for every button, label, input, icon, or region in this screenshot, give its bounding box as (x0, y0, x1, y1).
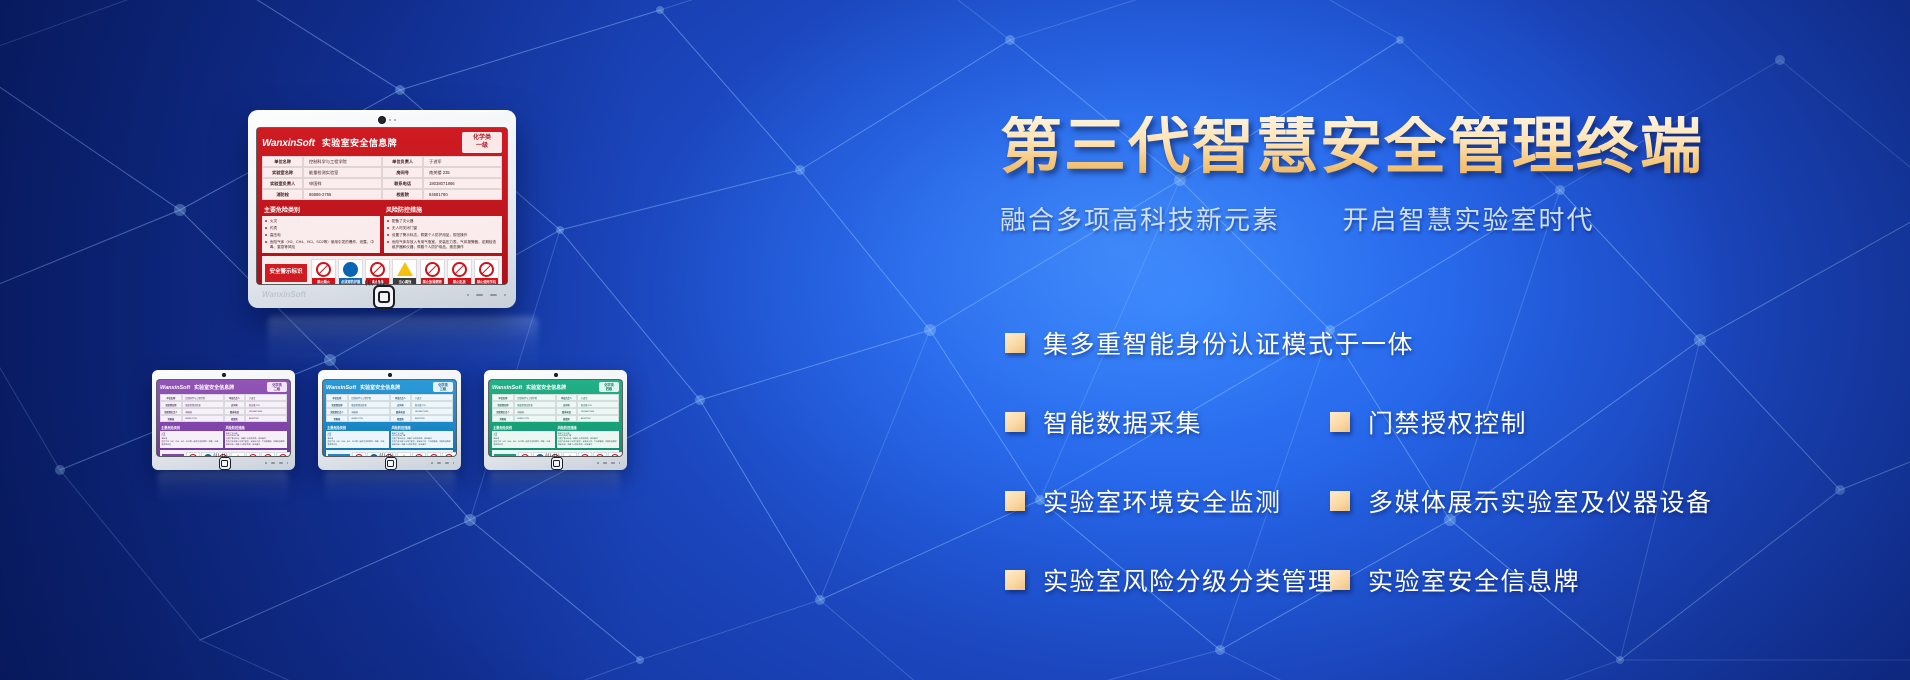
bullet-square-icon (1005, 333, 1025, 353)
hazard-text: 火灾 (270, 219, 377, 224)
info-key: 联系电话 (382, 178, 423, 189)
no-disorder-icon (452, 262, 467, 277)
info-value: 于进军 (423, 156, 502, 167)
control-list: 配备了灭火器 无人时关闭门窗 设置了警示标志，佩戴个人防护用品，规范操作 危险气… (391, 431, 454, 448)
feature-label: 多媒体展示实验室及仪器设备 (1368, 483, 1713, 519)
list-item: 危险气体（H2、CH4、HCl、SO2等）使用引发的爆炸、泄露、中毒、窒息等风险 (265, 240, 377, 251)
hazard-text: 危险气体（H2、CH4、HCl、SO2等）使用引发的爆炸、泄露、中毒、窒息等风险 (328, 441, 388, 447)
info-value: 18038071866 (411, 408, 453, 415)
info-key: 实验室负责人 (492, 408, 514, 415)
info-key: 校医院 (224, 415, 246, 422)
info-key: 消防栓 (326, 415, 348, 422)
info-value: 控制科学与工程学院 (514, 394, 556, 401)
info-key: 单位负责人 (556, 394, 578, 401)
info-key: 单位名称 (492, 394, 514, 401)
info-value: 申国祥 (348, 408, 390, 415)
info-key: 单位负责人 (224, 394, 246, 401)
front-camera-icon (554, 373, 558, 377)
grade-level: 四级 (599, 387, 619, 391)
hazard-list: 火灾 灼烫 高压电 危险气体（H2、CH4、HCl、SO2等）使用引发的爆炸、泄… (160, 431, 223, 448)
feature-item-6[interactable]: 实验室风险分级分类管理 (1005, 562, 1330, 598)
hazard-list: 火灾 灼烫 高压电 危险气体（H2、CH (262, 216, 380, 253)
grade-category: 化学类 (462, 135, 502, 143)
info-key: 单位名称 (262, 156, 303, 167)
control-text: 配备了灭火器 (392, 219, 499, 224)
info-value: 86886-2755 (303, 189, 382, 200)
hazard-header: 主要危险类别 (160, 424, 223, 431)
wanxinsoft-logo: WanxinSoft (262, 138, 315, 149)
hero-title: 第三代智慧安全管理终端 (1000, 116, 1860, 178)
control-header: 风险防控措施 (225, 424, 288, 431)
lab-info-table: 单位名称 控制科学与工程学院 单位负责人 于进军 实验室名称 能量检测实验室 房… (262, 156, 502, 200)
info-key: 房间号 (390, 401, 412, 408)
control-text: 无人时关闭门窗 (392, 226, 499, 231)
status-indicator-leds (597, 462, 620, 464)
list-item: 灼烫 (265, 226, 377, 231)
info-key: 校医院 (390, 415, 412, 422)
risk-sections: 主要危险类别 火灾 灼烫 高压电 危险气体（H2、CH4、HCl、SO2等）使用… (326, 424, 453, 448)
info-value: 84681780 (245, 415, 287, 422)
sensor-dots (389, 119, 396, 121)
hazard-text: 危险气体（H2、CH4、HCl、SO2等）使用引发的爆炸、泄露、中毒、窒息等风险 (162, 441, 222, 447)
control-header: 风险防控措施 (391, 424, 454, 431)
grade-level: 一级 (462, 143, 502, 151)
no-flammables-icon (425, 262, 440, 277)
board-header: WanxinSoft 实验室安全信息牌 化学类 一级 (262, 132, 502, 153)
thumbnail-chin-1: ((( ))) (152, 456, 295, 470)
info-key: 单位负责人 (390, 394, 412, 401)
control-text: 危险气体存放入专用气瓶室，安装压力表、气体报警器，定期检查维护器和仪器，佩戴个人… (558, 441, 618, 447)
safety-board-page-purple: WanxinSoft 实验室安全信息牌 化学类 二级 单位名称 控制科学与工程学… (157, 380, 290, 456)
corrosion-warning-icon (397, 262, 413, 276)
info-key: 实验室负责人 (160, 408, 182, 415)
info-key: 房间号 (224, 401, 246, 408)
feature-label: 门禁授权控制 (1368, 404, 1527, 440)
board-header: WanxinSoft 实验室安全信息牌 化学类 二级 (160, 382, 287, 392)
info-key: 实验室名称 (262, 167, 303, 178)
device-showcase: WanxinSoft 实验室安全信息牌 化学类 一级 单位名称 控制科学与工程学… (0, 0, 1000, 680)
info-key: 校医院 (382, 189, 423, 200)
info-key: 实验室名称 (492, 401, 514, 408)
hazard-list: 火灾 灼烫 高压电 危险气体（H2、CH4、HCl、SO2等）使用引发的爆炸、泄… (326, 431, 389, 448)
info-key: 消防栓 (262, 189, 303, 200)
status-indicator-leds (431, 462, 454, 464)
control-text: 设置了警示标志，佩戴个人防护用品，规范操作 (392, 233, 499, 238)
feature-label: 实验室风险分级分类管理 (1043, 562, 1335, 598)
nfc-inner-ring (553, 460, 559, 467)
control-section: 风险防控措施 配备了灭火器 无人时关闭门窗 设置了警示标志，佩戴个人防护用品，规… (557, 424, 620, 448)
info-value: 控制科学与工程学院 (182, 394, 224, 401)
info-key: 消防栓 (492, 415, 514, 422)
control-section: 风险防控措施 配备了灭火器 无人时关闭门窗 设置了警示标志，佩戴个人防护用品，规… (391, 424, 454, 448)
bullet-square-icon (1330, 570, 1350, 590)
thumbnail-chin-3: ((( ))) (484, 456, 627, 470)
safety-sign: 禁止放易燃物 (420, 259, 445, 284)
bullet-square-icon (1005, 412, 1025, 432)
main-tablet-device[interactable]: WanxinSoft 实验室安全信息牌 化学类 一级 单位名称 控制科学与工程学… (248, 110, 516, 308)
subtitle-right: 开启智慧实验室时代 (1342, 205, 1594, 235)
safety-sign: 禁止乱放 (447, 259, 472, 284)
feature-row: 集多重智能身份认证模式于一体 (1005, 325, 1885, 361)
info-key: 实验室名称 (160, 401, 182, 408)
safety-sign-list: 禁止烟火 必须穿防护服 禁止 (311, 259, 499, 284)
info-key: 消防栓 (160, 415, 182, 422)
info-value: 申国祥 (303, 178, 382, 189)
list-item: 危险气体存放入专用气瓶室，安装压力表、气体报警器，定期检查维护器和仪器，佩戴个人… (387, 240, 499, 251)
info-value: 控制科学与工程学院 (303, 156, 382, 167)
info-key: 联系电话 (224, 408, 246, 415)
board-header: WanxinSoft 实验室安全信息牌 化学类 四级 (492, 382, 619, 392)
hazard-section: 主要危险类别 火灾 灼烫 (262, 203, 380, 253)
control-header: 风险防控措施 (557, 424, 620, 431)
info-value: 控制科学与工程学院 (348, 394, 390, 401)
safety-board-page: WanxinSoft 实验室安全信息牌 化学类 一级 单位名称 控制科学与工程学… (257, 128, 507, 284)
info-value: 84681780 (423, 189, 502, 200)
status-indicator-leds (265, 462, 288, 464)
info-key: 校医院 (556, 415, 578, 422)
info-value: 18038071866 (423, 178, 502, 189)
info-value: 能量检测实验室 (514, 401, 556, 408)
front-camera-icon (378, 116, 386, 124)
board-title: 实验室安全信息牌 (526, 384, 566, 391)
info-value: 于进军 (245, 394, 287, 401)
nfc-inner-ring (387, 460, 393, 467)
info-value: 84681780 (577, 415, 619, 422)
feature-label: 集多重智能身份认证模式于一体 (1043, 325, 1414, 361)
main-tablet-chin: WanxinSoft ((( ))) (248, 284, 516, 308)
feature-label: 实验室安全信息牌 (1368, 562, 1580, 598)
hero-banner: WanxinSoft 实验室安全信息牌 化学类 一级 单位名称 控制科学与工程学… (0, 0, 1910, 680)
hazard-text: 灼烫 (270, 226, 377, 231)
front-camera-icon (222, 373, 226, 377)
info-key: 单位名称 (326, 394, 348, 401)
bullet-square-icon (1330, 491, 1350, 511)
feature-item-1[interactable]: 集多重智能身份认证模式于一体 (1005, 325, 1414, 361)
safety-sign: 必须穿防护服 (338, 259, 363, 284)
brand-lockup: WanxinSoft 实验室安全信息牌 (160, 384, 234, 391)
list-item: 高压电 (265, 233, 377, 238)
info-value: 南关楼 235 (245, 401, 287, 408)
info-value: 86886-2755 (182, 415, 224, 422)
thumbnail-tablet-1[interactable]: WanxinSoft 实验室安全信息牌 化学类 二级 单位名称 控制科学与工程学… (152, 370, 295, 470)
nfc-card-reader-button[interactable] (385, 457, 397, 470)
control-text: 危险气体存放入专用气瓶室，安装压力表、气体报警器，定期检查维护器和仪器，佩戴个人… (392, 240, 499, 251)
safety-sign: 禁止使用手机 (474, 259, 499, 284)
hero-copy: 第三代智慧安全管理终端 融合多项高科技新元素 开启智慧实验室时代 (1000, 116, 1860, 237)
risk-grade-badge: 化学类 一级 (462, 132, 502, 153)
info-key: 单位名称 (160, 394, 182, 401)
feature-item-7[interactable]: 实验室安全信息牌 (1330, 562, 1580, 598)
info-key: 房间号 (382, 167, 423, 178)
wanxinsoft-logo: WanxinSoft (326, 385, 356, 391)
hazard-header: 主要危险类别 (326, 424, 389, 431)
wanxinsoft-logo: WanxinSoft (492, 385, 522, 391)
feature-label: 实验室环境安全监测 (1043, 483, 1282, 519)
feature-item-5[interactable]: 多媒体展示实验室及仪器设备 (1330, 483, 1713, 519)
thumbnail-chin-2: ((( ))) (318, 456, 461, 470)
wanxinsoft-logo: WanxinSoft (160, 385, 190, 391)
bullet-square-icon (1005, 570, 1025, 590)
nfc-card-reader-button[interactable] (551, 457, 563, 470)
control-list: 配备了灭火器 无人时关闭门窗 设置了警示标志，佩戴个人防护用品，规范操作 危险气… (225, 431, 288, 448)
control-header: 风险防控措施 (384, 203, 502, 216)
info-value: 18038071866 (577, 408, 619, 415)
list-item: 设置了警示标志，佩戴个人防护用品，规范操作 (387, 233, 499, 238)
info-value: 18038071866 (245, 408, 287, 415)
info-value: 南关楼 235 (577, 401, 619, 408)
brand-lockup: WanxinSoft 实验室安全信息牌 (262, 136, 397, 149)
risk-grade-badge: 化学类 四级 (599, 382, 619, 392)
risk-sections: 主要危险类别 火灾 灼烫 (262, 203, 502, 253)
info-value: 86886-2755 (514, 415, 556, 422)
safety-sign: 当心腐蚀 (392, 259, 417, 284)
list-item: 无人时关闭门窗 (387, 226, 499, 231)
wear-protective-clothing-icon (343, 262, 358, 277)
risk-grade-badge: 化学类 二级 (267, 382, 287, 392)
info-value: 申国祥 (182, 408, 224, 415)
nfc-card-reader-button[interactable] (219, 457, 231, 470)
hazard-text: 危险气体（H2、CH4、HCl、SO2等）使用引发的爆炸、泄露、中毒、窒息等风险 (494, 441, 554, 447)
hazard-text: 危险气体（H2、CH4、HCl、SO2等）使用引发的爆炸、泄露、中毒、窒息等风险 (270, 240, 377, 251)
info-key: 单位负责人 (382, 156, 423, 167)
risk-sections: 主要危险类别 火灾 灼烫 高压电 危险气体（H2、CH4、HCl、SO2等）使用… (492, 424, 619, 448)
hazard-section: 主要危险类别 火灾 灼烫 高压电 危险气体（H2、CH4、HCl、SO2等）使用… (160, 424, 223, 448)
info-key: 联系电话 (390, 408, 412, 415)
thumb-reflection-2 (325, 470, 455, 504)
lab-info-table: 单位名称 控制科学与工程学院 单位负责人 于进军 实验室名称 能量检测实验室 房… (326, 394, 453, 422)
bullet-square-icon (1330, 412, 1350, 432)
control-list: 配备了灭火器 无人时关闭门窗 设置了警示标志，佩戴个人防护用品，规范操作 危险气… (557, 431, 620, 448)
safety-board-page-blue: WanxinSoft 实验室安全信息牌 化学类 三级 单位名称 控制科学与工程学… (323, 380, 456, 456)
thumbnail-tablet-3[interactable]: WanxinSoft 实验室安全信息牌 化学类 四级 单位名称 控制科学与工程学… (484, 370, 627, 470)
hero-subtitle: 融合多项高科技新元素 开启智慧实验室时代 (1000, 200, 1860, 237)
hazard-list: 火灾 灼烫 高压电 危险气体（H2、CH4、HCl、SO2等）使用引发的爆炸、泄… (492, 431, 555, 448)
grade-level: 二级 (267, 387, 287, 391)
brand-lockup: WanxinSoft 实验室安全信息牌 (326, 384, 400, 391)
control-text: 危险气体存放入专用气瓶室，安装压力表、气体报警器，定期检查维护器和仪器，佩戴个人… (226, 441, 286, 447)
control-text: 危险气体存放入专用气瓶室，安装压力表、气体报警器，定期检查维护器和仪器，佩戴个人… (392, 441, 452, 447)
grade-level: 三级 (433, 387, 453, 391)
thumbnail-tablet-2[interactable]: WanxinSoft 实验室安全信息牌 化学类 三级 单位名称 控制科学与工程学… (318, 370, 461, 470)
control-section: 风险防控措施 配备了灭火器 无人时关闭门窗 设置了警示标志，佩戴个人防护用品，规… (225, 424, 288, 448)
main-tablet-reflection (268, 316, 538, 374)
safety-board-page-green: WanxinSoft 实验室安全信息牌 化学类 四级 单位名称 控制科学与工程学… (489, 380, 622, 456)
info-value: 能量检测实验室 (182, 401, 224, 408)
feature-row: 实验室风险分级分类管理 实验室安全信息牌 (1005, 562, 1885, 598)
feature-row: 实验室环境安全监测 多媒体展示实验室及仪器设备 (1005, 483, 1885, 519)
nfc-card-reader-button[interactable] (373, 285, 395, 309)
board-title: 实验室安全信息牌 (194, 384, 234, 391)
no-mobile-phone-icon (479, 262, 494, 277)
nfc-inner-ring (378, 291, 390, 304)
no-open-flame-icon (316, 262, 331, 277)
info-key: 联系电话 (556, 408, 578, 415)
thumbnail-screen-1[interactable]: WanxinSoft 实验室安全信息牌 化学类 二级 单位名称 控制科学与工程学… (157, 380, 290, 456)
no-smoking-icon (370, 262, 385, 277)
board-title: 实验室安全信息牌 (360, 384, 400, 391)
hazard-section: 主要危险类别 火灾 灼烫 高压电 危险气体（H2、CH4、HCl、SO2等）使用… (326, 424, 389, 448)
info-key: 房间号 (556, 401, 578, 408)
thumb-reflection-3 (490, 470, 620, 504)
chin-brand-label: WanxinSoft (262, 290, 306, 299)
info-value: 南关楼 235 (423, 167, 502, 178)
feature-list: 集多重智能身份认证模式于一体 智能数据采集 门禁授权控制 实验室环境安全监测 多… (1005, 325, 1885, 641)
feature-item-4[interactable]: 实验室环境安全监测 (1005, 483, 1330, 519)
thumbnail-screen-2[interactable]: WanxinSoft 实验室安全信息牌 化学类 三级 单位名称 控制科学与工程学… (323, 380, 456, 456)
risk-grade-badge: 化学类 三级 (433, 382, 453, 392)
control-section: 风险防控措施 配备了灭火器 无人时关闭门窗 (384, 203, 502, 253)
thumb-reflection-1 (158, 470, 288, 504)
control-list: 配备了灭火器 无人时关闭门窗 设置了警示标志，佩戴个人防护用品，规范操作 (384, 216, 502, 253)
hazard-header: 主要危险类别 (492, 424, 555, 431)
board-header: WanxinSoft 实验室安全信息牌 化学类 三级 (326, 382, 453, 392)
safety-signs-label: 安全警示标识 (265, 264, 307, 281)
feature-item-2[interactable]: 智能数据采集 (1005, 404, 1330, 440)
risk-sections: 主要危险类别 火灾 灼烫 高压电 危险气体（H2、CH4、HCl、SO2等）使用… (160, 424, 287, 448)
info-value: 能量检测实验室 (348, 401, 390, 408)
list-item: 火灾 (265, 219, 377, 224)
info-key: 实验室负责人 (326, 408, 348, 415)
lab-info-table: 单位名称 控制科学与工程学院 单位负责人 于进军 实验室名称 能量检测实验室 房… (160, 394, 287, 422)
brand-lockup: WanxinSoft 实验室安全信息牌 (492, 384, 566, 391)
hazard-text: 高压电 (270, 233, 377, 238)
thumbnail-screen-3[interactable]: WanxinSoft 实验室安全信息牌 化学类 四级 单位名称 控制科学与工程学… (489, 380, 622, 456)
feature-label: 智能数据采集 (1043, 404, 1202, 440)
info-value: 86886-2755 (348, 415, 390, 422)
info-value: 能量检测实验室 (303, 167, 382, 178)
safety-sign: 禁止烟火 (311, 259, 336, 284)
main-tablet-screen[interactable]: WanxinSoft 实验室安全信息牌 化学类 一级 单位名称 控制科学与工程学… (257, 128, 507, 284)
bullet-square-icon (1005, 491, 1025, 511)
board-title: 实验室安全信息牌 (322, 136, 397, 149)
list-item: 配备了灭火器 (387, 219, 499, 224)
info-key: 实验室名称 (326, 401, 348, 408)
status-indicator-leds (467, 294, 506, 296)
info-value: 84681780 (411, 415, 453, 422)
hazard-header: 主要危险类别 (262, 203, 380, 216)
nfc-inner-ring (221, 460, 227, 467)
feature-item-3[interactable]: 门禁授权控制 (1330, 404, 1527, 440)
info-value: 于进军 (577, 394, 619, 401)
hazard-section: 主要危险类别 火灾 灼烫 高压电 危险气体（H2、CH4、HCl、SO2等）使用… (492, 424, 555, 448)
info-value: 南关楼 235 (411, 401, 453, 408)
lab-info-table: 单位名称 控制科学与工程学院 单位负责人 于进军 实验室名称 能量检测实验室 房… (492, 394, 619, 422)
front-camera-icon (388, 373, 392, 377)
subtitle-left: 融合多项高科技新元素 (1000, 205, 1280, 235)
info-value: 申国祥 (514, 408, 556, 415)
info-value: 于进军 (411, 394, 453, 401)
info-key: 实验室负责人 (262, 178, 303, 189)
feature-row: 智能数据采集 门禁授权控制 (1005, 404, 1885, 440)
